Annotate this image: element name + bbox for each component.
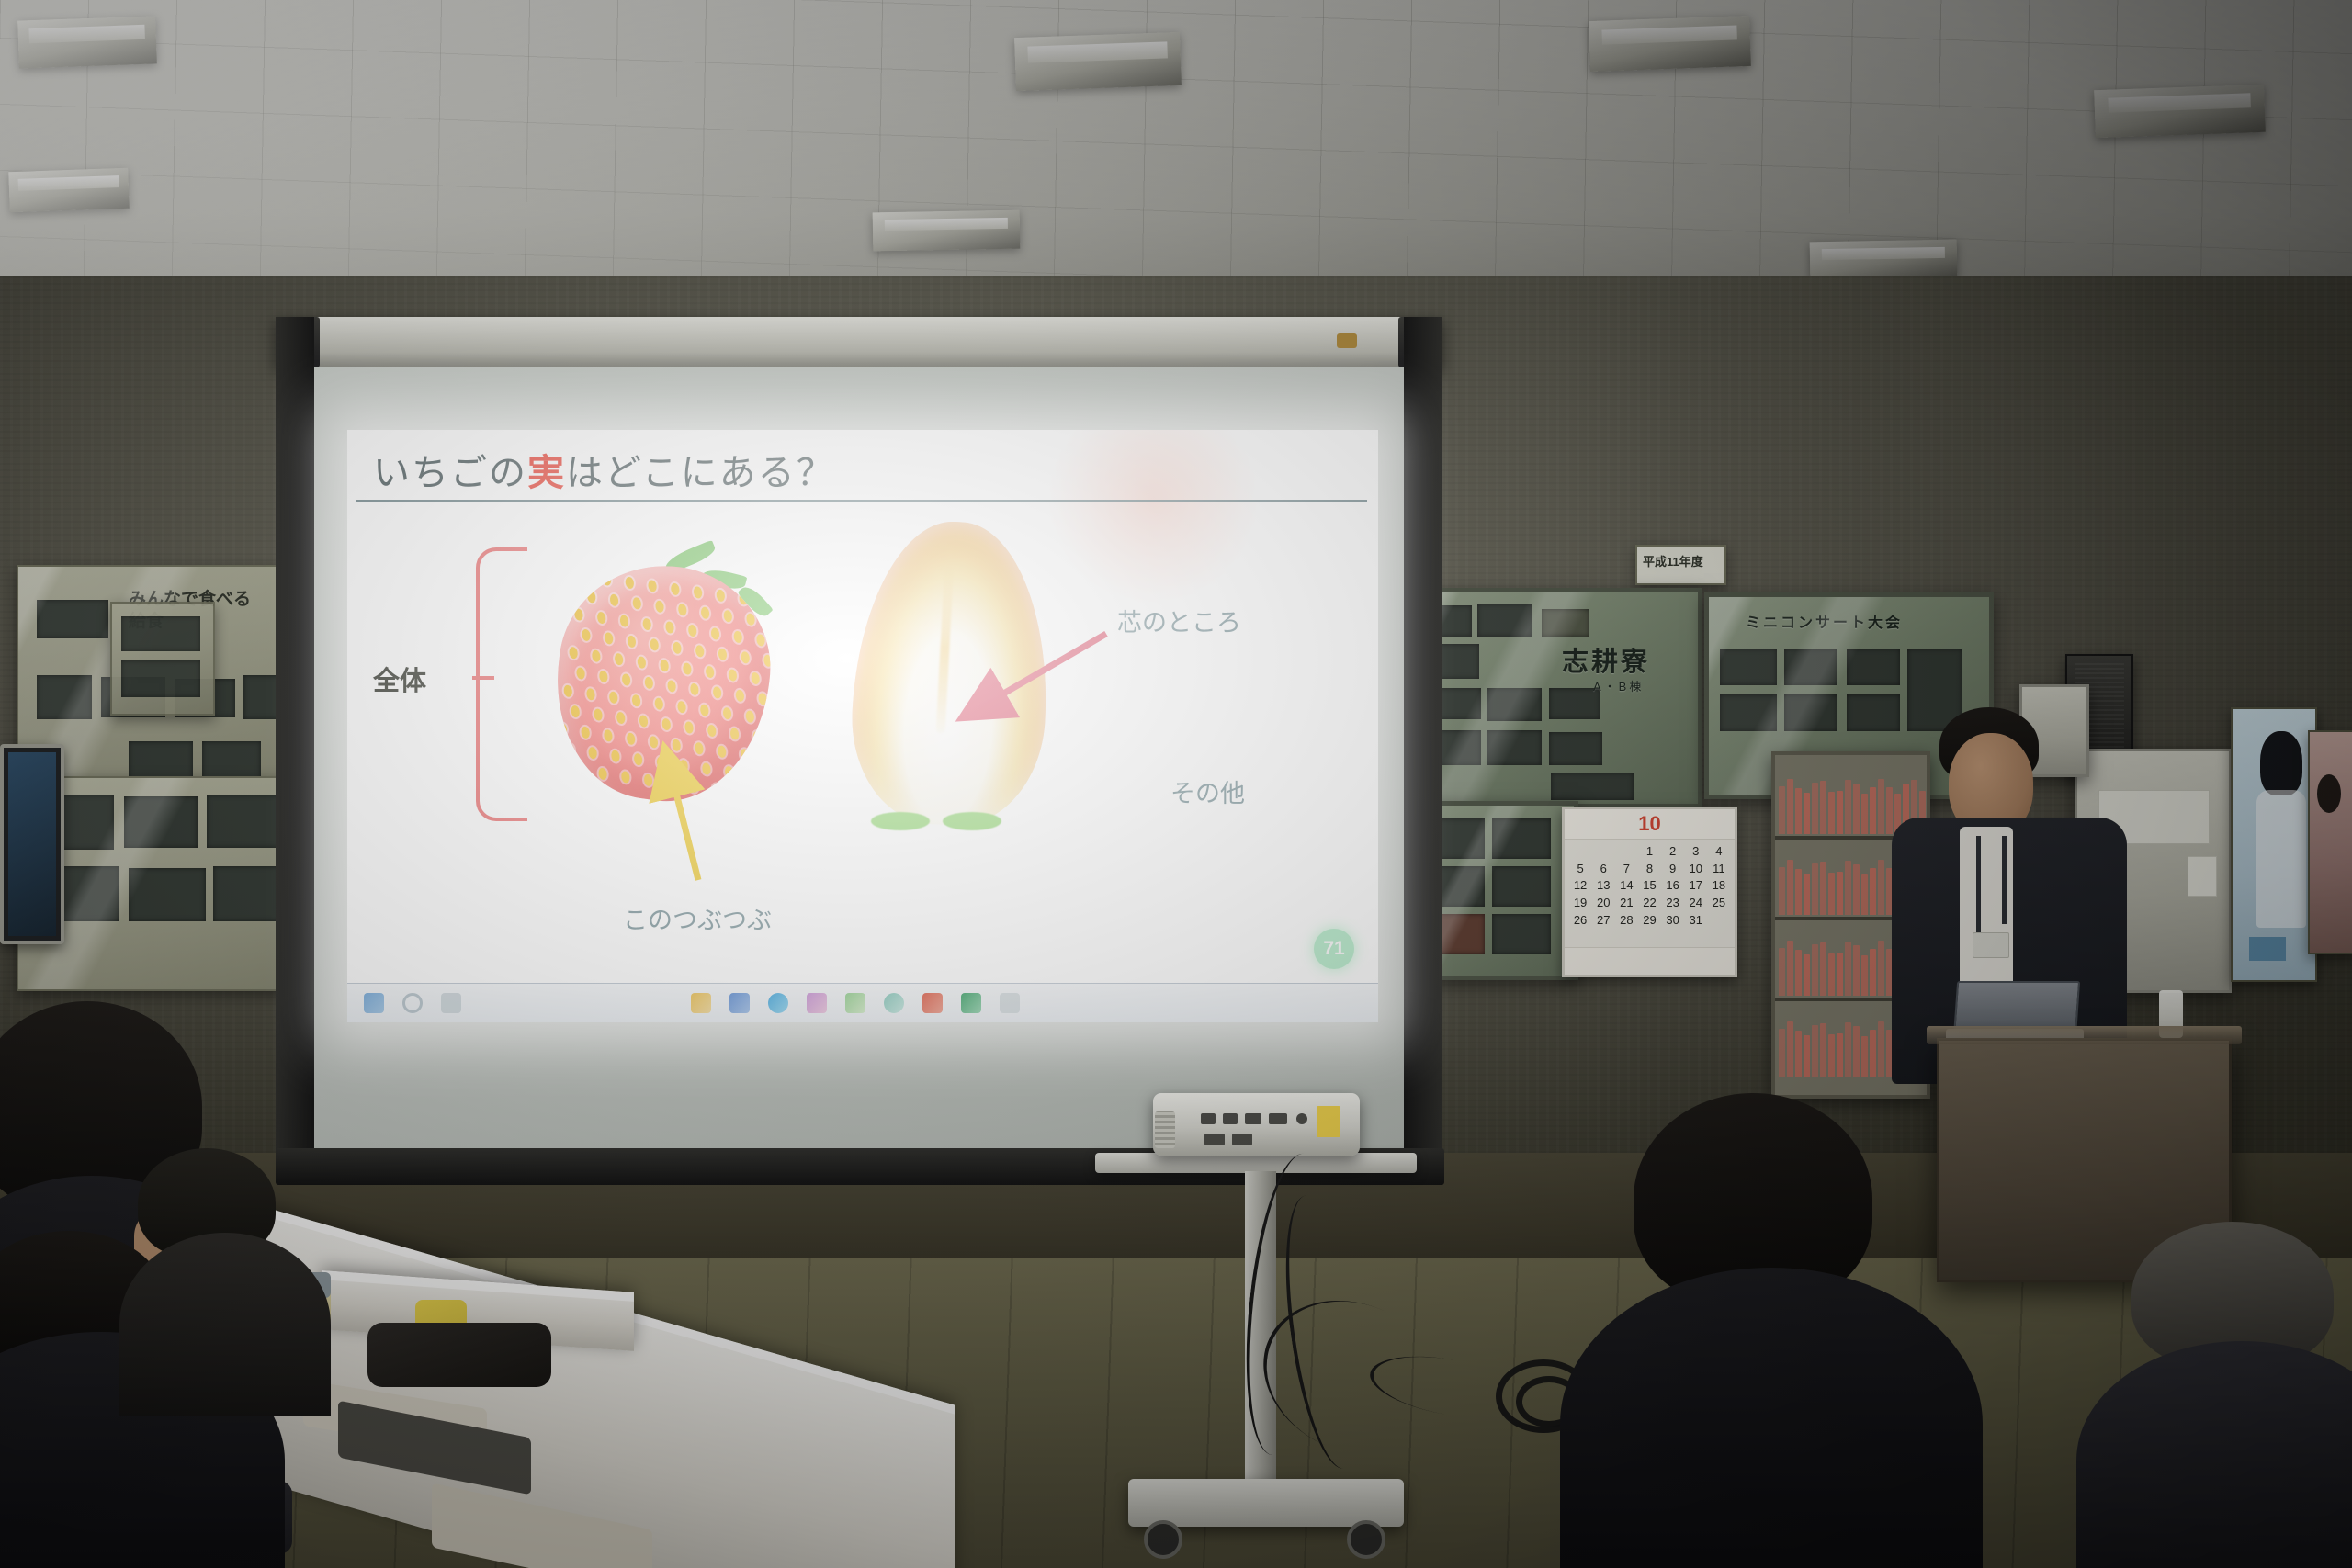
strawberry-seed (642, 617, 652, 630)
strawberry-seed (716, 589, 726, 602)
projector (1153, 1093, 1360, 1156)
book-spine (1853, 864, 1860, 915)
calendar-day: 13 (1592, 877, 1614, 894)
book-spine (1820, 781, 1826, 834)
strawberry-seed (609, 593, 619, 606)
book-spine (1812, 944, 1818, 996)
slide-title-highlight: 実 (527, 453, 566, 493)
strawberry-seed (684, 721, 694, 734)
calendar-day: 18 (1708, 877, 1730, 894)
strawberry-seed (598, 767, 608, 780)
strawberry-seed (581, 628, 591, 641)
strawberry-seed (733, 630, 743, 643)
label-other: その他 (1170, 773, 1245, 809)
strawberry-seed (581, 726, 591, 739)
strawberry-seed (610, 750, 620, 762)
strawberry-seed (563, 684, 573, 697)
mail-icon[interactable] (729, 993, 750, 1013)
book-spine (1878, 941, 1884, 996)
book-spine (1795, 950, 1802, 996)
windows-taskbar[interactable] (347, 983, 1378, 1022)
strawberry-seed (694, 742, 704, 755)
book-spine (1828, 1034, 1835, 1077)
strawberry-seed (598, 670, 608, 682)
calendar-day: 4 (1708, 843, 1730, 860)
strawberry-seed (558, 723, 568, 736)
ceiling-shading (0, 0, 2352, 303)
book-spine (1787, 779, 1793, 834)
calendar-day: 20 (1592, 895, 1614, 911)
book-spine (1795, 869, 1802, 915)
calendar-day: 14 (1615, 877, 1637, 894)
book-spine (1870, 787, 1876, 834)
slide-title-rule (356, 500, 1367, 502)
projected-slide: いちごの実はどこにある？ 全体 (347, 430, 1378, 1022)
search-icon[interactable] (402, 993, 423, 1013)
slide-title: いちごの実はどこにある？ (373, 443, 835, 496)
strawberry-seed (682, 662, 692, 675)
screen-right-rail (1404, 317, 1442, 1171)
label-seeds: このつぶつぶ (623, 900, 772, 936)
book-spine (1828, 792, 1835, 834)
strawberry-seed (654, 600, 664, 613)
book-spine (1878, 779, 1884, 834)
strawberry-seed (649, 736, 659, 749)
book-spine (1845, 942, 1851, 996)
strawberry-seed (576, 667, 586, 680)
strawberry-seed (596, 611, 606, 624)
strawberry-seed (660, 659, 670, 671)
store-icon[interactable] (807, 993, 827, 1013)
book-spine (1861, 955, 1868, 996)
strawberry-seed (728, 669, 738, 682)
strawberry-seed (648, 580, 658, 592)
whole-brace-nub (472, 676, 494, 680)
excel-icon[interactable] (961, 993, 981, 1013)
book-spine (1828, 953, 1835, 996)
screen-housing (276, 317, 1442, 367)
screen-left-rail (276, 317, 314, 1171)
strawberry-seed (768, 615, 778, 628)
strawberry-seed (734, 786, 744, 799)
calendar-day: 27 (1592, 912, 1614, 929)
wall-monitor (0, 744, 64, 944)
calendar-day: 17 (1685, 877, 1707, 894)
audience-member-5 (2104, 1222, 2352, 1568)
table-object-bag[interactable] (367, 1323, 551, 1387)
strawberry-seed (631, 694, 641, 707)
book-spine (1820, 942, 1826, 996)
label-whole: 全体 (373, 660, 426, 698)
projector-cart-tray (1095, 1153, 1417, 1173)
strawberry-seed (705, 665, 715, 678)
book-spine (1804, 874, 1810, 915)
strawberry-seed (672, 739, 682, 751)
strawberry-seed (579, 570, 589, 582)
strawberry-seed (661, 717, 672, 730)
strawberry-seed (644, 676, 654, 689)
calendar-day (1615, 843, 1637, 860)
strawberry-seed (625, 576, 635, 589)
strawberry-seed (569, 647, 579, 660)
strawberry-seed (656, 756, 666, 769)
book-spine (1779, 1029, 1785, 1077)
strawberry-seed (707, 724, 717, 737)
calendar-day: 21 (1615, 895, 1637, 911)
strawberry-seed (664, 621, 674, 634)
calendar-day: 26 (1569, 912, 1591, 929)
strawberry-seed (621, 673, 631, 686)
book-spine (1804, 793, 1810, 834)
calendar-day: 12 (1569, 877, 1591, 894)
right-poster-girl (2231, 707, 2317, 982)
calendar-day: 24 (1685, 895, 1707, 911)
strawberry-seed (752, 730, 763, 743)
strawberry-seed (620, 771, 630, 784)
misc-icon[interactable] (1000, 993, 1020, 1013)
cart-caster-right (1347, 1520, 1385, 1559)
book-spine (1870, 949, 1876, 996)
strawberry-seed (758, 693, 768, 705)
strawberry-seed (632, 597, 642, 610)
strawberry-seed (593, 708, 603, 721)
strawberry-seed (614, 652, 624, 665)
strawberry-seed (650, 638, 660, 651)
book-spine (1837, 953, 1843, 996)
calendar-day: 22 (1638, 895, 1660, 911)
book-spine (1861, 794, 1868, 834)
strawberry-seed (717, 745, 727, 758)
strawberry-seed (710, 627, 720, 640)
strawberry-seed (712, 686, 722, 699)
calendar-day: 5 (1569, 861, 1591, 877)
book-spine (1878, 860, 1884, 915)
strawberry-seed (722, 706, 732, 719)
book-spine (1853, 945, 1860, 996)
book-spine (1779, 786, 1785, 834)
wall-calendar: 10 1234567891011121314151617181920212223… (1562, 807, 1737, 977)
book-spine (1828, 873, 1835, 915)
strawberry-seed (667, 680, 677, 693)
calendar-day: 16 (1662, 877, 1684, 894)
strawberry-whole (557, 540, 777, 807)
strawberry-seed (679, 759, 689, 772)
calendar-day (1708, 912, 1730, 929)
strawberry-seed (666, 777, 676, 790)
slide-title-prefix: いちごの (373, 453, 527, 493)
strawberry-seed (616, 711, 626, 724)
strawberry-seed (723, 610, 733, 623)
calendar-day (1592, 843, 1614, 860)
book-spine (1820, 1023, 1826, 1077)
task-view-icon[interactable] (441, 993, 461, 1013)
right-poster-edge (2308, 730, 2352, 954)
strawberry-seed (604, 632, 614, 645)
strawberry-seed (746, 613, 756, 626)
book-spine (1787, 941, 1793, 996)
calendar-day: 23 (1662, 895, 1684, 911)
calendar-day: 7 (1615, 861, 1637, 877)
projector-tape-label (1317, 1106, 1340, 1137)
calendar-header: 10 (1565, 809, 1735, 840)
strawberry-seed (729, 728, 740, 740)
strawberry-seed (670, 582, 680, 595)
slide-page-badge: 71 (1314, 929, 1354, 969)
whole-brace (476, 547, 527, 821)
book-spine (1820, 862, 1826, 915)
strawberry-seed (603, 729, 613, 742)
strawberry-seed (627, 635, 637, 648)
strawberry-seed (689, 780, 699, 793)
book-spine (1870, 1030, 1876, 1077)
strawberry-seed (588, 747, 598, 760)
book-spine (1845, 1022, 1851, 1077)
calendar-day: 3 (1685, 843, 1707, 860)
projector-cart-base (1128, 1479, 1404, 1527)
book-spine (1837, 1033, 1843, 1077)
audience-member-3 (138, 1148, 322, 1424)
book-spine (1870, 868, 1876, 915)
calendar-day: 11 (1708, 861, 1730, 877)
edge-icon[interactable] (768, 993, 788, 1013)
slide-title-suffix: はどこにある？ (566, 453, 835, 493)
strawberry-seed (677, 604, 687, 616)
book-spine (1861, 874, 1868, 915)
calendar-day (1569, 843, 1591, 860)
photo-scene: みんなで食べる給食 平成11年度 志耕寮 (0, 0, 2352, 1568)
book-spine (1853, 784, 1860, 834)
strawberry-seed (763, 654, 773, 667)
strawberry-seed (643, 773, 653, 786)
calendar-footer (1565, 947, 1735, 975)
strawberry-seed (747, 769, 757, 782)
strawberry-cross-section (854, 522, 1047, 825)
book-spine (1804, 1035, 1810, 1077)
calendar-day: 8 (1638, 861, 1660, 877)
explorer-icon[interactable] (691, 993, 711, 1013)
strawberry-seed (724, 765, 734, 778)
presenter-lanyard (1976, 836, 1981, 937)
strawberry-seed (699, 704, 709, 716)
screen-pull-knob[interactable] (1337, 333, 1357, 348)
calendar-month: 10 (1638, 812, 1660, 836)
strawberry-seed (693, 586, 703, 599)
calendar-day: 2 (1662, 843, 1684, 860)
strawberry-seed (639, 715, 649, 728)
date-sign: 平成11年度 (1635, 545, 1726, 585)
strawberry-seed (633, 752, 643, 765)
left-poster-small (110, 602, 215, 716)
calendar-day: 25 (1708, 895, 1730, 911)
cross-section-body (847, 517, 1056, 830)
strawberry-seed (586, 591, 596, 604)
book-spine (1787, 860, 1793, 915)
strawberry-seed (741, 651, 751, 664)
powerpoint-icon[interactable] (922, 993, 943, 1013)
book-spine (1779, 867, 1785, 915)
office-icon[interactable] (884, 993, 904, 1013)
strawberry-seed (740, 749, 750, 761)
book-spine (1812, 783, 1818, 834)
book-spine (1795, 788, 1802, 834)
strawberry-seed (672, 641, 682, 654)
strawberry-seed (637, 656, 647, 669)
strawberry-seed (718, 648, 728, 660)
calendar-day: 6 (1592, 861, 1614, 877)
calendar-day: 31 (1685, 912, 1707, 929)
strawberry-seed (677, 701, 687, 714)
slide-watermark (1047, 430, 1259, 604)
book-spine (1812, 863, 1818, 915)
windows-start-icon[interactable] (364, 993, 384, 1013)
calendar-day: 1 (1638, 843, 1660, 860)
strawberry-seed (735, 689, 745, 702)
date-sign-text: 平成11年度 (1643, 552, 1703, 570)
ceiling (0, 0, 2352, 303)
calendar-day: 28 (1615, 912, 1637, 929)
strawberry-seed (619, 615, 629, 627)
strawberry-seed (745, 710, 755, 723)
cart-caster-left (1144, 1520, 1182, 1559)
strawberry-seed (565, 743, 575, 756)
book-spine (1804, 954, 1810, 996)
strawberry-seed (654, 697, 664, 710)
strawberry-seed (575, 764, 585, 777)
strawberry-seed (711, 784, 721, 796)
book-spine (1837, 872, 1843, 915)
audience-member-4 (1578, 1093, 1964, 1568)
strawberry-seed (689, 682, 699, 695)
book-spine (1837, 791, 1843, 834)
strawberry-seed (751, 671, 761, 684)
calendar-day: 29 (1638, 912, 1660, 929)
photos-icon[interactable] (845, 993, 865, 1013)
label-core: 芯のところ (1117, 603, 1241, 638)
calendar-day: 15 (1638, 877, 1660, 894)
calendar-day: 30 (1662, 912, 1684, 929)
strawberry-seed (591, 649, 601, 662)
presenter-id-badge (1973, 932, 2009, 958)
book-spine (1878, 1021, 1884, 1077)
book-spine (1853, 1026, 1860, 1077)
strawberry-seed (695, 645, 705, 658)
calendar-day: 9 (1662, 861, 1684, 877)
calendar-grid: 1234567891011121314151617181920212223242… (1565, 840, 1735, 931)
shikoryo-board: 志耕寮 A・B棟 (1408, 588, 1702, 808)
strawberry-seed (573, 608, 583, 621)
book-spine (1787, 1021, 1793, 1077)
book-spine (1779, 948, 1785, 996)
strawberry-seed (585, 688, 595, 701)
strawberry-seed (700, 606, 710, 619)
strawberry-seed (626, 732, 636, 745)
strawberry-seed (602, 573, 612, 586)
strawberry-seed (552, 761, 562, 773)
strawberry-seed (571, 705, 581, 717)
cross-section-core (936, 564, 955, 734)
strawberry-seed (701, 762, 711, 775)
book-spine (1861, 1036, 1868, 1077)
book-spine (1845, 861, 1851, 915)
strawberry-seed (608, 691, 618, 704)
calendar-day: 19 (1569, 895, 1591, 911)
presenter-lanyard-2 (2002, 836, 2007, 924)
strawberry-seed (755, 634, 765, 647)
book-spine (1812, 1025, 1818, 1077)
calendar-day: 10 (1685, 861, 1707, 877)
strawberry-seed (687, 624, 697, 637)
book-spine (1795, 1031, 1802, 1077)
book-spine (1845, 780, 1851, 834)
